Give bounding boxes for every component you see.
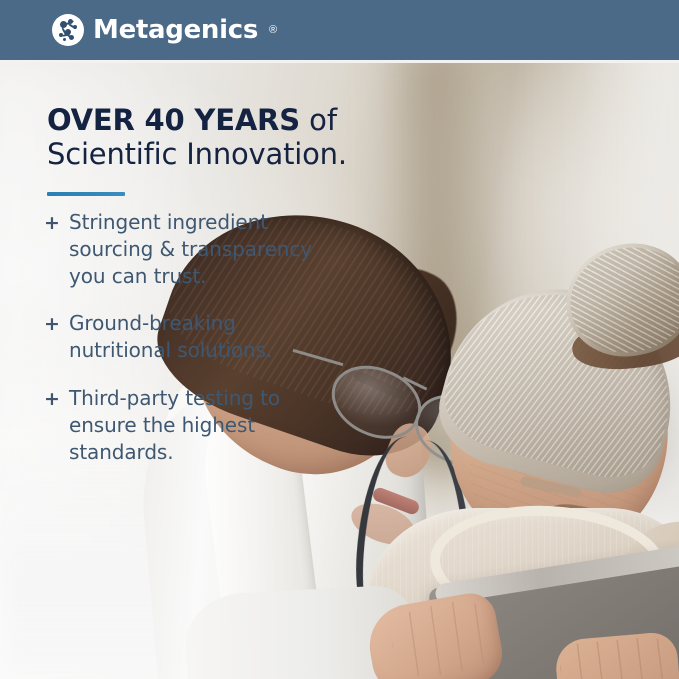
marketing-banner: Metagenics ® OVER 40 YEARS of Scientific…: [0, 0, 679, 679]
list-item-label: Third-party testing to ensure the highes…: [69, 385, 344, 465]
list-item-label: Ground-breaking nutritional solutions.: [69, 310, 344, 364]
page-title: OVER 40 YEARS of Scientific Innovation.: [47, 103, 387, 171]
list-item: + Ground-breaking nutritional solutions.: [44, 310, 344, 364]
plus-icon: +: [44, 386, 58, 412]
headline-line-2: Scientific Innovation.: [47, 137, 387, 171]
list-item: + Stringent ingredient sourcing & transp…: [44, 209, 344, 289]
brand-name-text: Metagenics: [93, 17, 258, 43]
list-item-label: Stringent ingredient sourcing & transpar…: [69, 209, 344, 289]
accent-rule: [47, 192, 125, 196]
headline-line-1: OVER 40 YEARS of: [47, 103, 387, 137]
benefit-list: + Stringent ingredient sourcing & transp…: [44, 209, 344, 465]
header-divider: [0, 60, 679, 63]
headline-light: of: [300, 103, 337, 137]
metagenics-molecule-circle-icon: [52, 14, 84, 46]
brand-trademark-symbol: ®: [269, 24, 277, 36]
plus-icon: +: [44, 311, 58, 337]
headline-bold: OVER 40 YEARS: [47, 103, 300, 137]
brand-lockup[interactable]: Metagenics ®: [52, 14, 277, 46]
plus-icon: +: [44, 210, 58, 236]
list-item: + Third-party testing to ensure the high…: [44, 385, 344, 465]
